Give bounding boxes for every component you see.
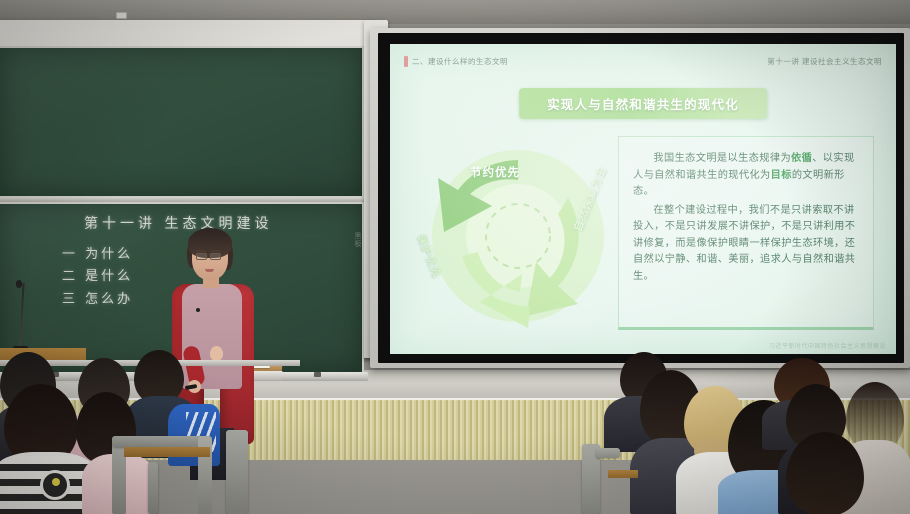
chalk-tray-clip	[314, 372, 321, 377]
presentation-slide[interactable]: 二、建设什么样的生态文明 第十一讲 建设社会主义生态文明 实现人与自然和谐共生的…	[390, 44, 896, 354]
slide-header-left: 二、建设什么样的生态文明	[404, 56, 508, 67]
glasses-icon	[196, 253, 207, 260]
student-head	[786, 432, 864, 514]
cycle-diagram: 节约优先 保护优先 自然恢复为主	[418, 136, 618, 332]
cycle-label-top: 节约优先	[470, 164, 520, 180]
teacher-brow-left	[196, 250, 206, 252]
slide-watermark: 习近平新时代中国特色社会主义思想概论	[769, 341, 886, 350]
glasses-icon	[210, 253, 221, 260]
teacher-hand-right	[210, 346, 223, 361]
blackboard-edge-label: 黑板	[352, 232, 362, 248]
chair-back	[226, 430, 248, 514]
paragraph-text: 我国生态文明是以生态规律为	[653, 153, 791, 164]
lapel-microphone-icon	[196, 308, 200, 312]
teacher-brow-right	[211, 250, 221, 252]
slide-paragraph-2: 在整个建设过程中，我们不是只讲索取不讲投入，不是只讲发展不讲保护，不是只讲利用不…	[633, 203, 859, 286]
desk-surface	[124, 447, 210, 457]
chair-rail	[596, 448, 620, 458]
blackboard-item-2: 二 是什么	[62, 265, 133, 284]
slide-banner-title: 实现人与自然和谐共生的现代化	[519, 88, 767, 119]
chair-leg	[148, 462, 158, 514]
slide-lecture-label: 第十一讲 建设社会主义生态文明	[767, 56, 882, 67]
section-marker-icon	[404, 56, 408, 67]
wall-outlet-icon	[116, 12, 127, 19]
blackboard-item-3: 三 怎么办	[62, 288, 133, 307]
slide-section-label: 二、建设什么样的生态文明	[412, 56, 508, 67]
highlighted-term: 目标	[771, 170, 792, 181]
microphone-icon	[16, 280, 22, 288]
blackboard-item-1: 一 为什么	[62, 243, 133, 262]
slide-paragraph-1: 我国生态文明是以生态规律为依循、以实现人与自然和谐共生的现代化为目标的文明新形态…	[633, 151, 859, 201]
chair-top-rail	[112, 436, 212, 447]
highlighted-term: 依循	[791, 153, 812, 164]
paragraph-text: 在整个建设过程中，我们不是只讲索取不讲投入，不是只讲发展不讲保护，不是只讲利用不…	[633, 205, 855, 282]
desk-surface	[608, 470, 638, 478]
classroom-scene: 第十一讲 生态文明建设 一 为什么 二 是什么 三 怎么办 黑板 二、建设什么样…	[0, 0, 910, 514]
backpack-logo-dot	[52, 478, 60, 486]
blackboard-panel-upper	[0, 46, 364, 198]
slide-text-card: 我国生态文明是以生态规律为依循、以实现人与自然和谐共生的现代化为目标的文明新形态…	[618, 136, 874, 330]
